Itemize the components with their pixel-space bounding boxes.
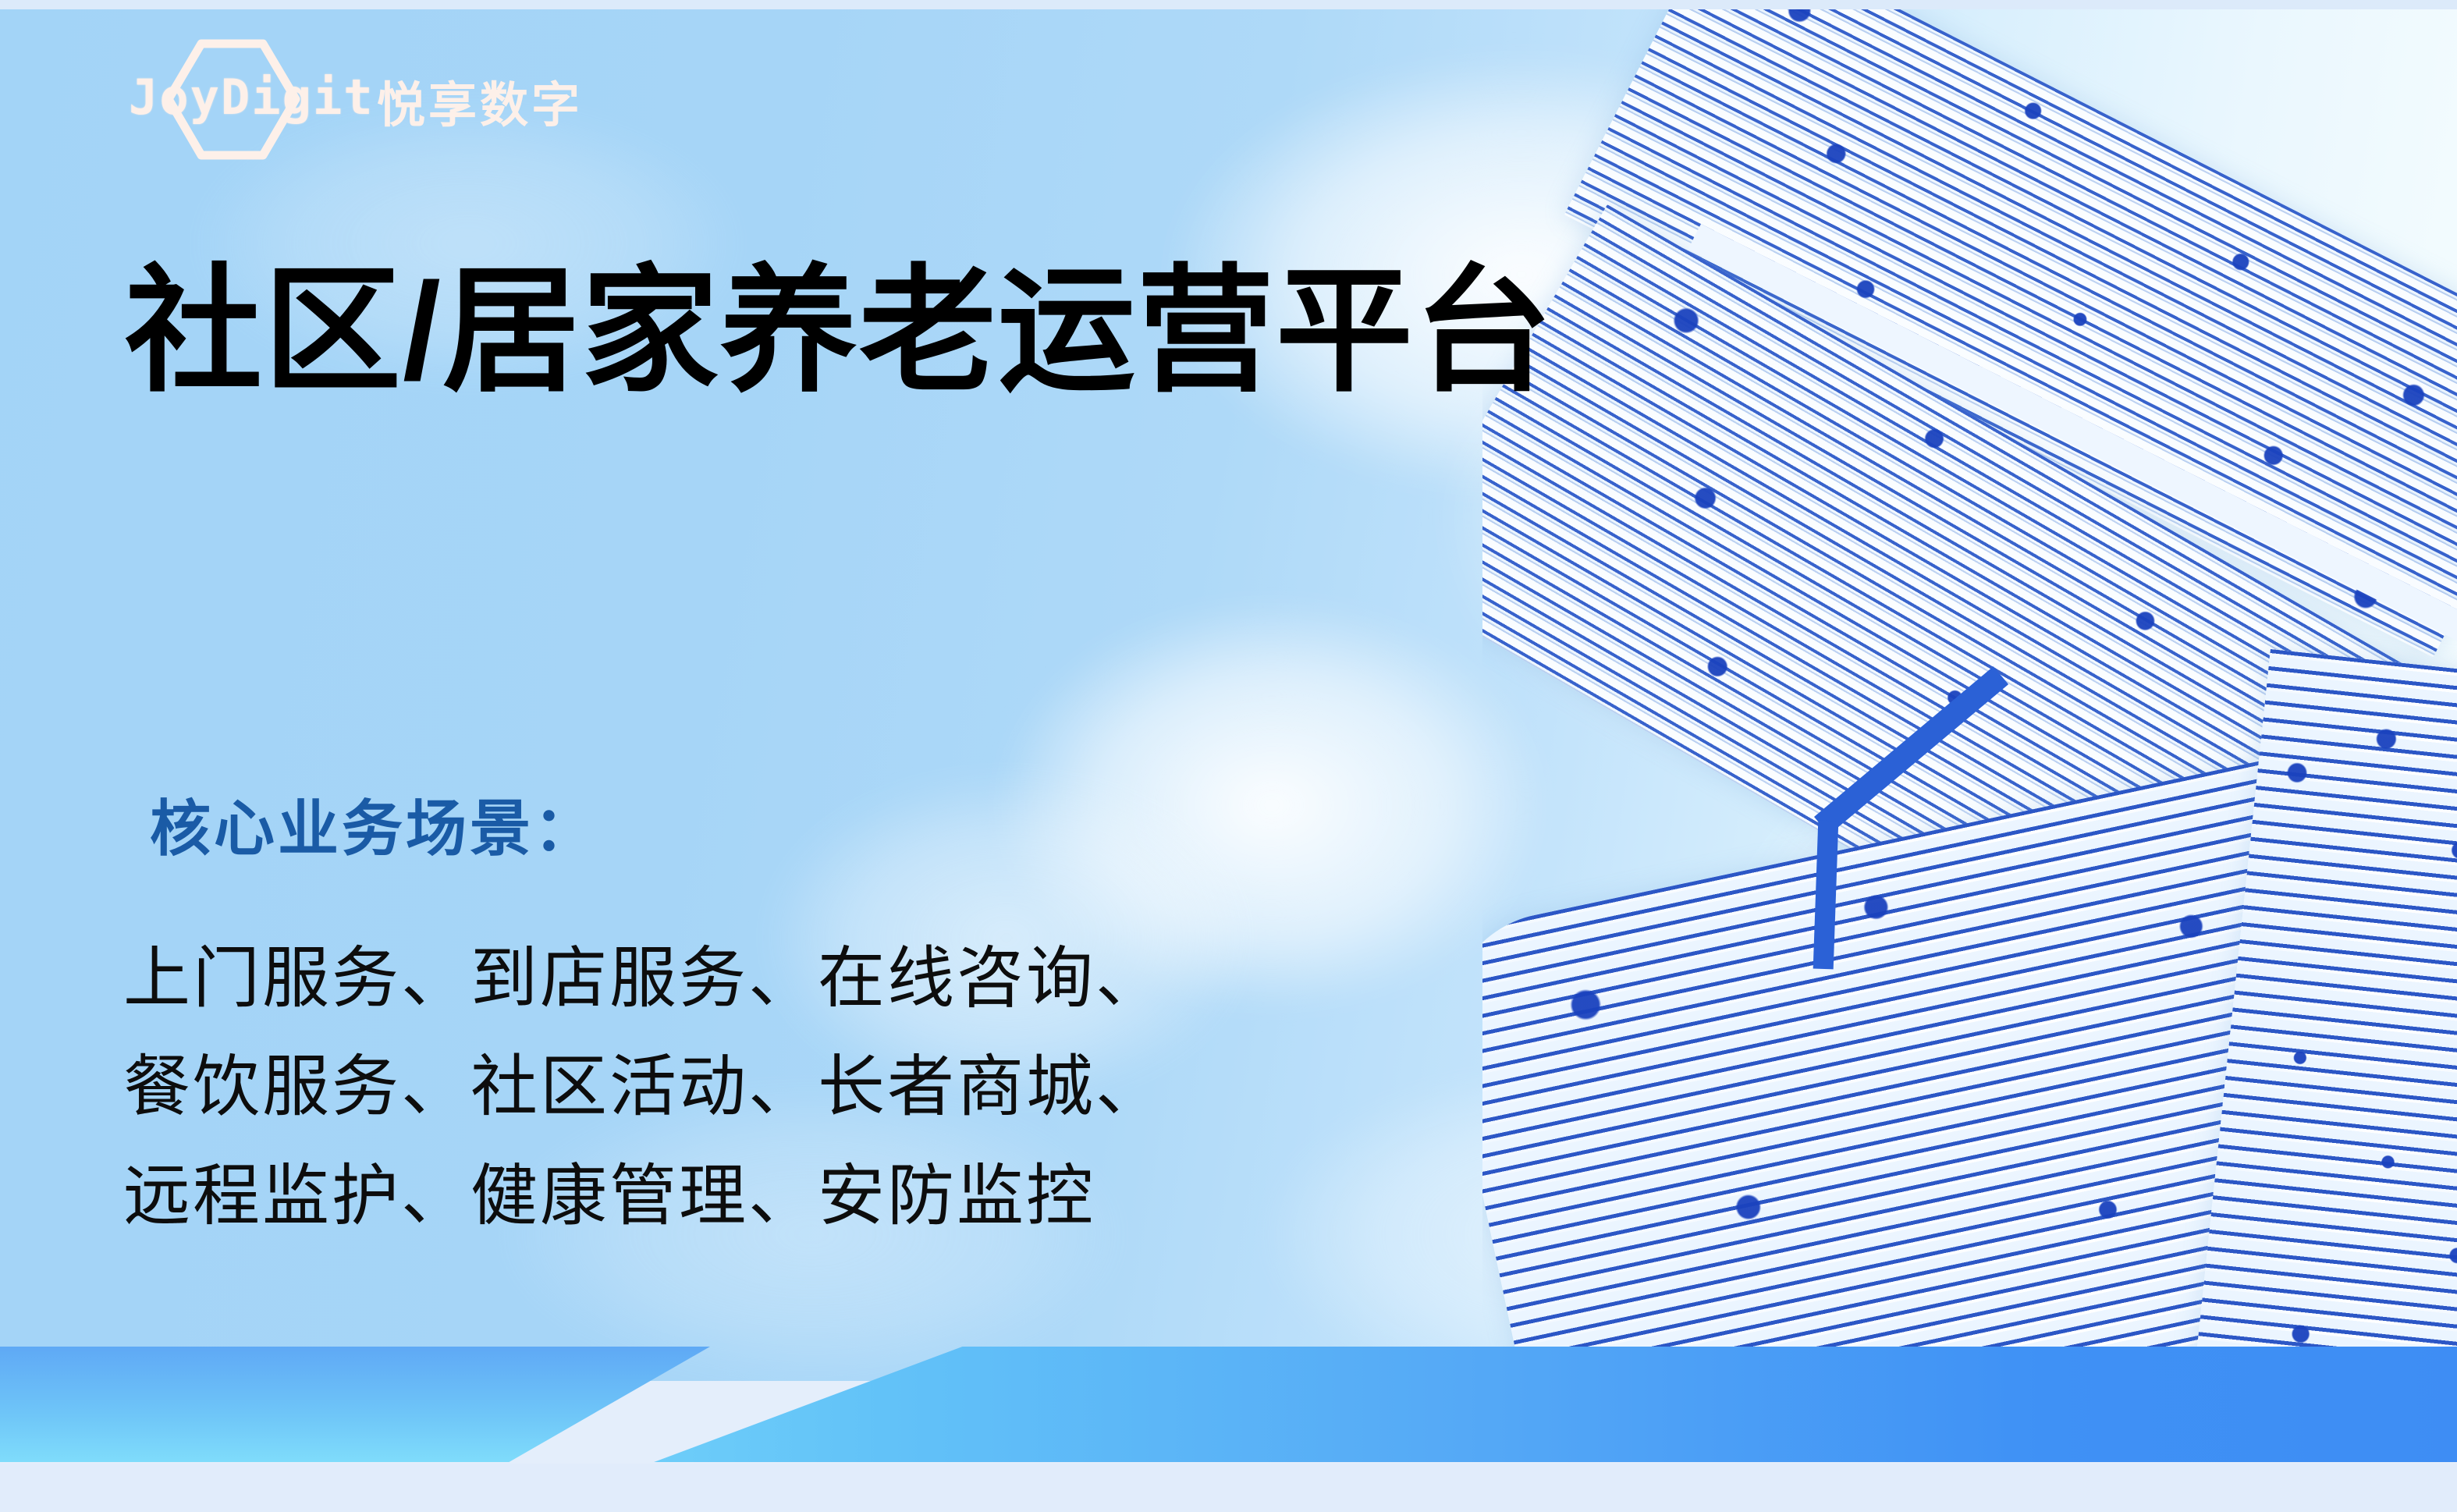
band-footer-strip — [0, 1464, 2457, 1512]
band-left-shape — [0, 1347, 710, 1462]
slide-canvas: JoyDigit 悦享数字 社区/居家养老运营平台 核心业务场景： 上门服务、到… — [0, 0, 2457, 1512]
logo-text-en: JoyDigit — [129, 69, 375, 126]
scenario-line: 餐饮服务、社区活动、长者商城、 — [123, 1033, 1165, 1141]
bottom-decoration-band — [0, 1309, 2457, 1512]
page-title: 社区/居家养老运营平台 — [125, 257, 1553, 406]
scenario-line: 上门服务、到店服务、在线咨询、 — [123, 925, 1165, 1033]
section-subtitle: 核心业务场景： — [150, 780, 598, 868]
top-edge-strip — [0, 0, 2457, 9]
skyscraper-photo — [1482, 9, 2457, 1381]
band-right-shape — [538, 1347, 2457, 1462]
scenario-line: 远程监护、健康管理、安防监控 — [123, 1142, 1165, 1251]
logo-mark: JoyDigit 悦享数字 — [129, 61, 597, 139]
brand-logo[interactable]: JoyDigit 悦享数字 — [129, 61, 597, 139]
scenario-list: 上门服务、到店服务、在线咨询、 餐饮服务、社区活动、长者商城、 远程监护、健康管… — [123, 925, 1165, 1251]
logo-text-cn: 悦享数字 — [377, 66, 583, 136]
